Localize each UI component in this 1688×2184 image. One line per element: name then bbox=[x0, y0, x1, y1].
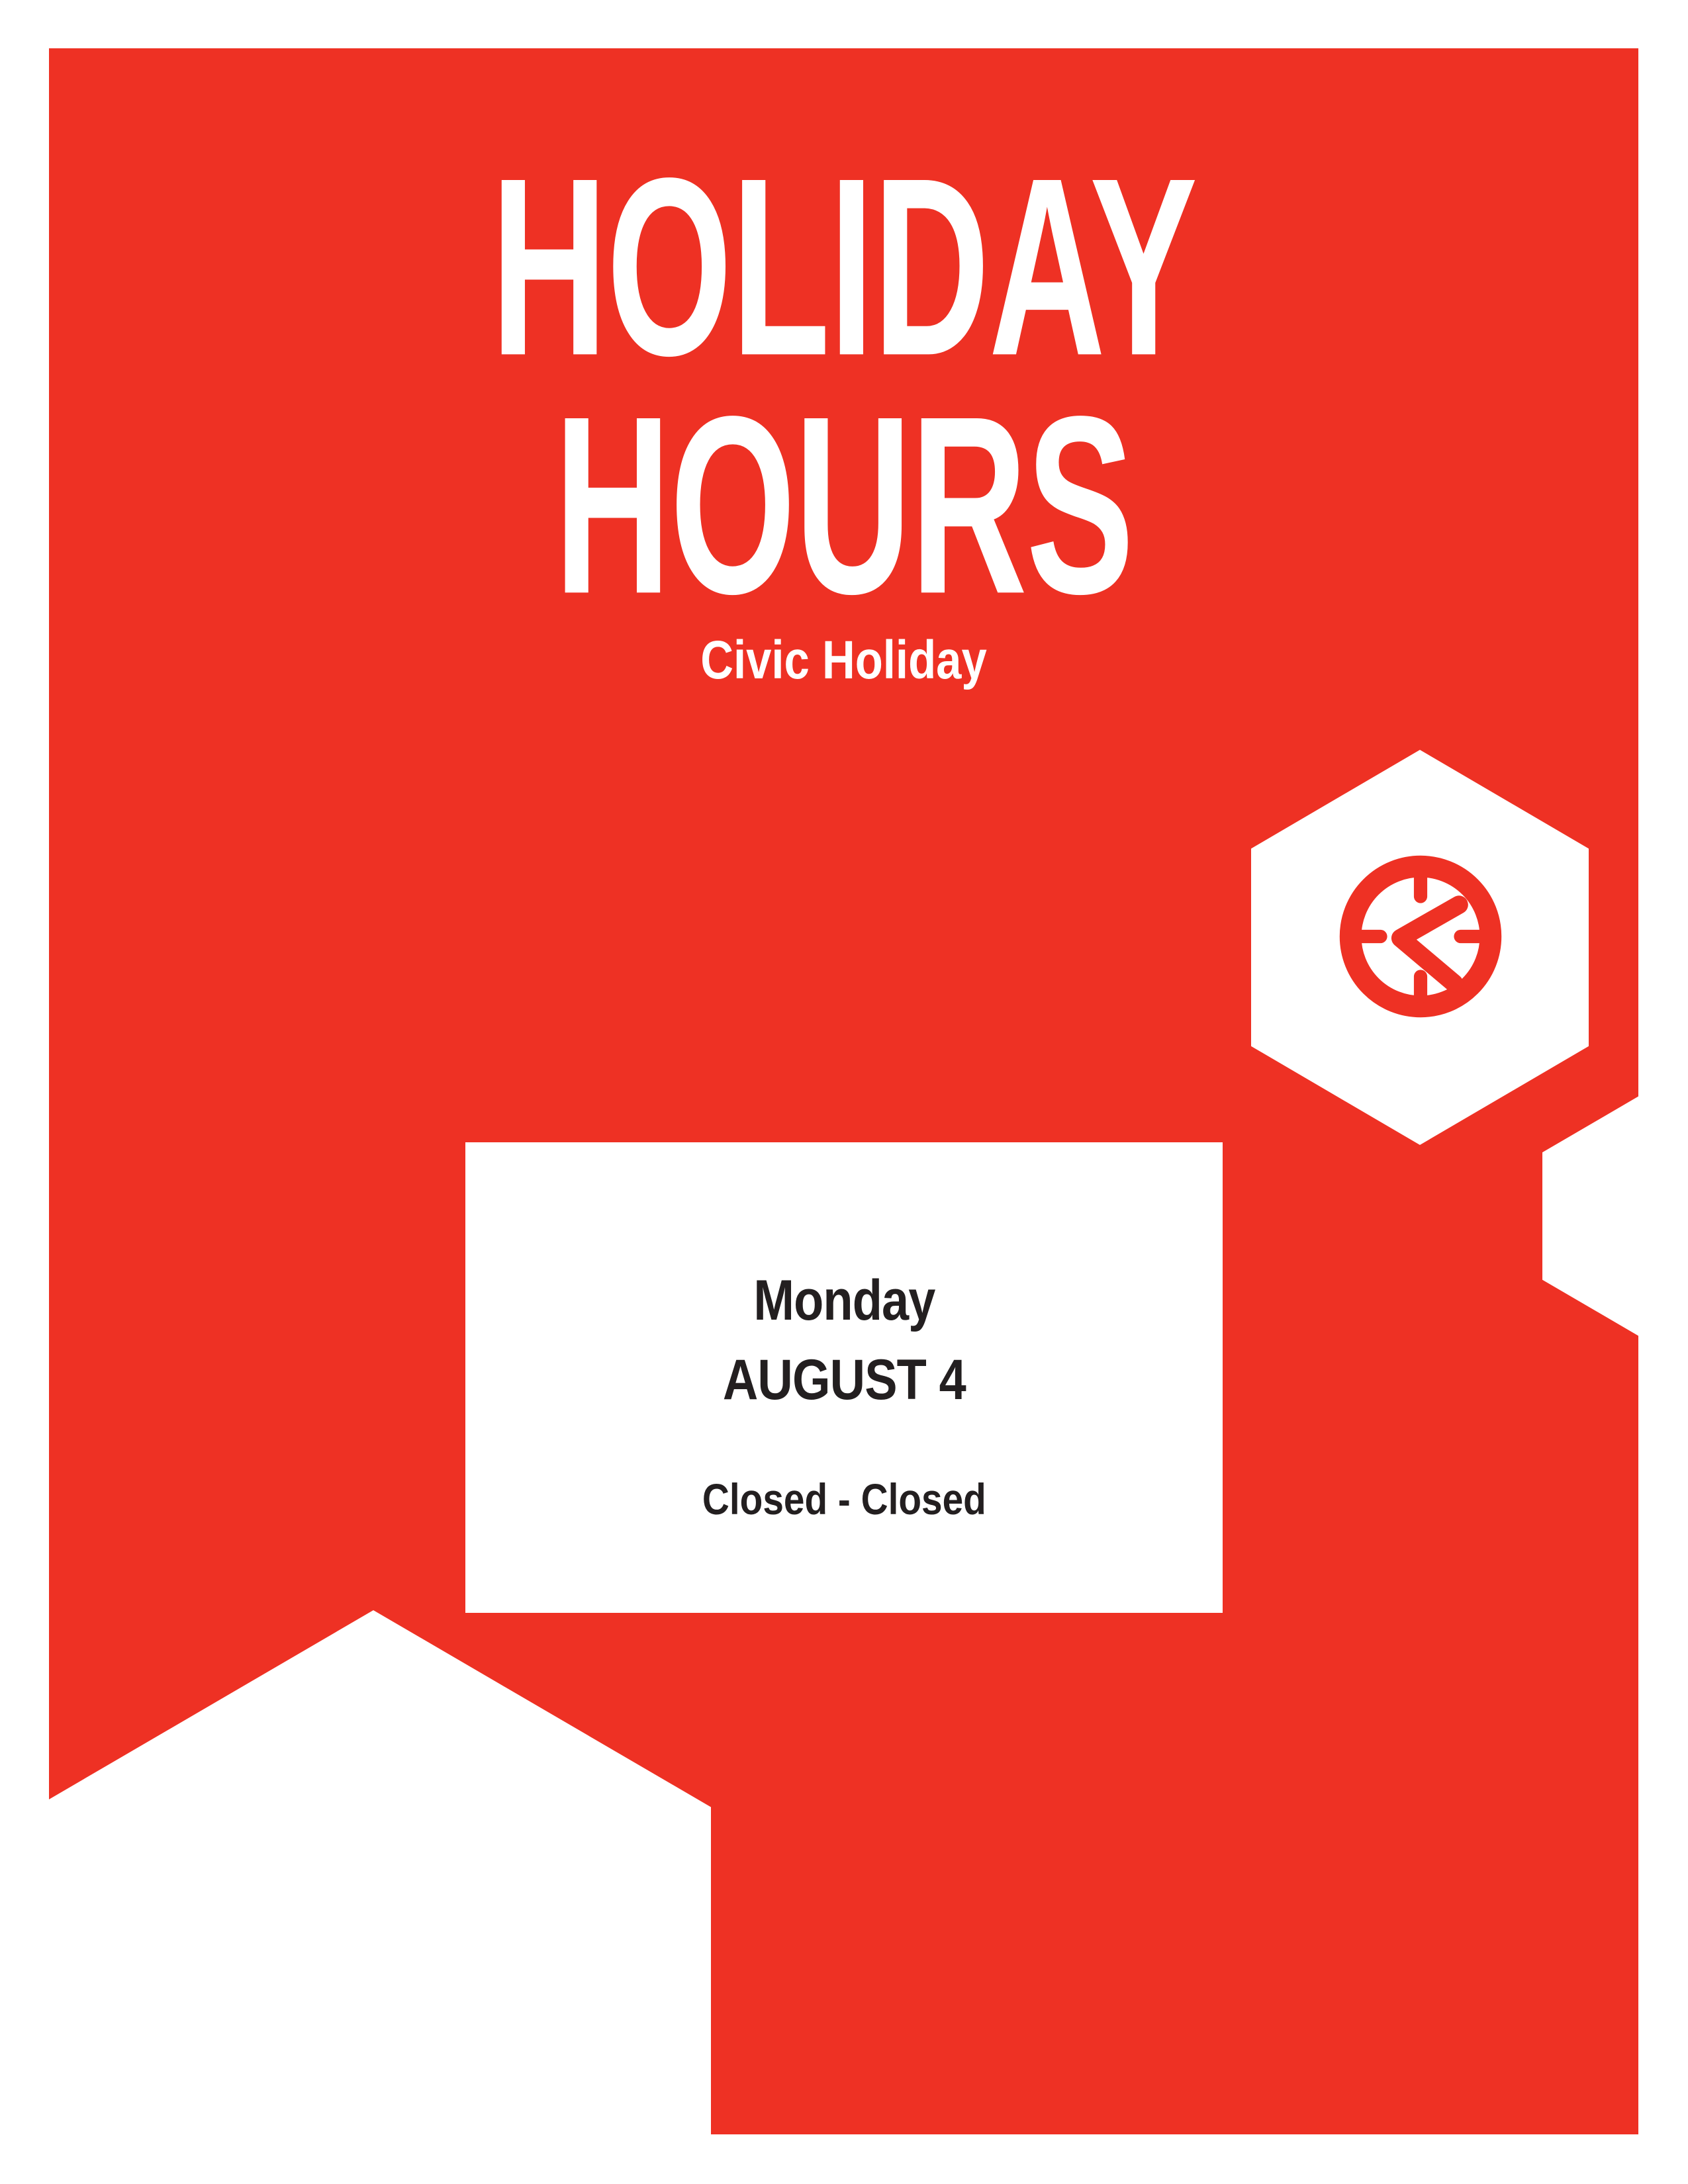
holiday-date-label: AUGUST 4 bbox=[722, 1351, 965, 1408]
hexagon-accent-large-icon bbox=[49, 1610, 711, 2134]
page-title-line-2: HOURS bbox=[256, 385, 1432, 625]
holiday-hours-label: Closed - Closed bbox=[702, 1477, 986, 1521]
holiday-day-label: Monday bbox=[753, 1272, 935, 1329]
hexagon-accent-icon bbox=[1542, 1089, 1638, 1343]
red-background-panel: HOLIDAY HOURS Civic Holiday Monday AUGUS… bbox=[49, 48, 1638, 2134]
clock-icon bbox=[1337, 853, 1504, 1020]
page-title-line-1: HOLIDAY bbox=[256, 146, 1432, 387]
page-subtitle: Civic Holiday bbox=[176, 633, 1511, 688]
holiday-info-card: Monday AUGUST 4 Closed - Closed bbox=[465, 1142, 1223, 1613]
holiday-hours-poster: HOLIDAY HOURS Civic Holiday Monday AUGUS… bbox=[0, 0, 1688, 2184]
